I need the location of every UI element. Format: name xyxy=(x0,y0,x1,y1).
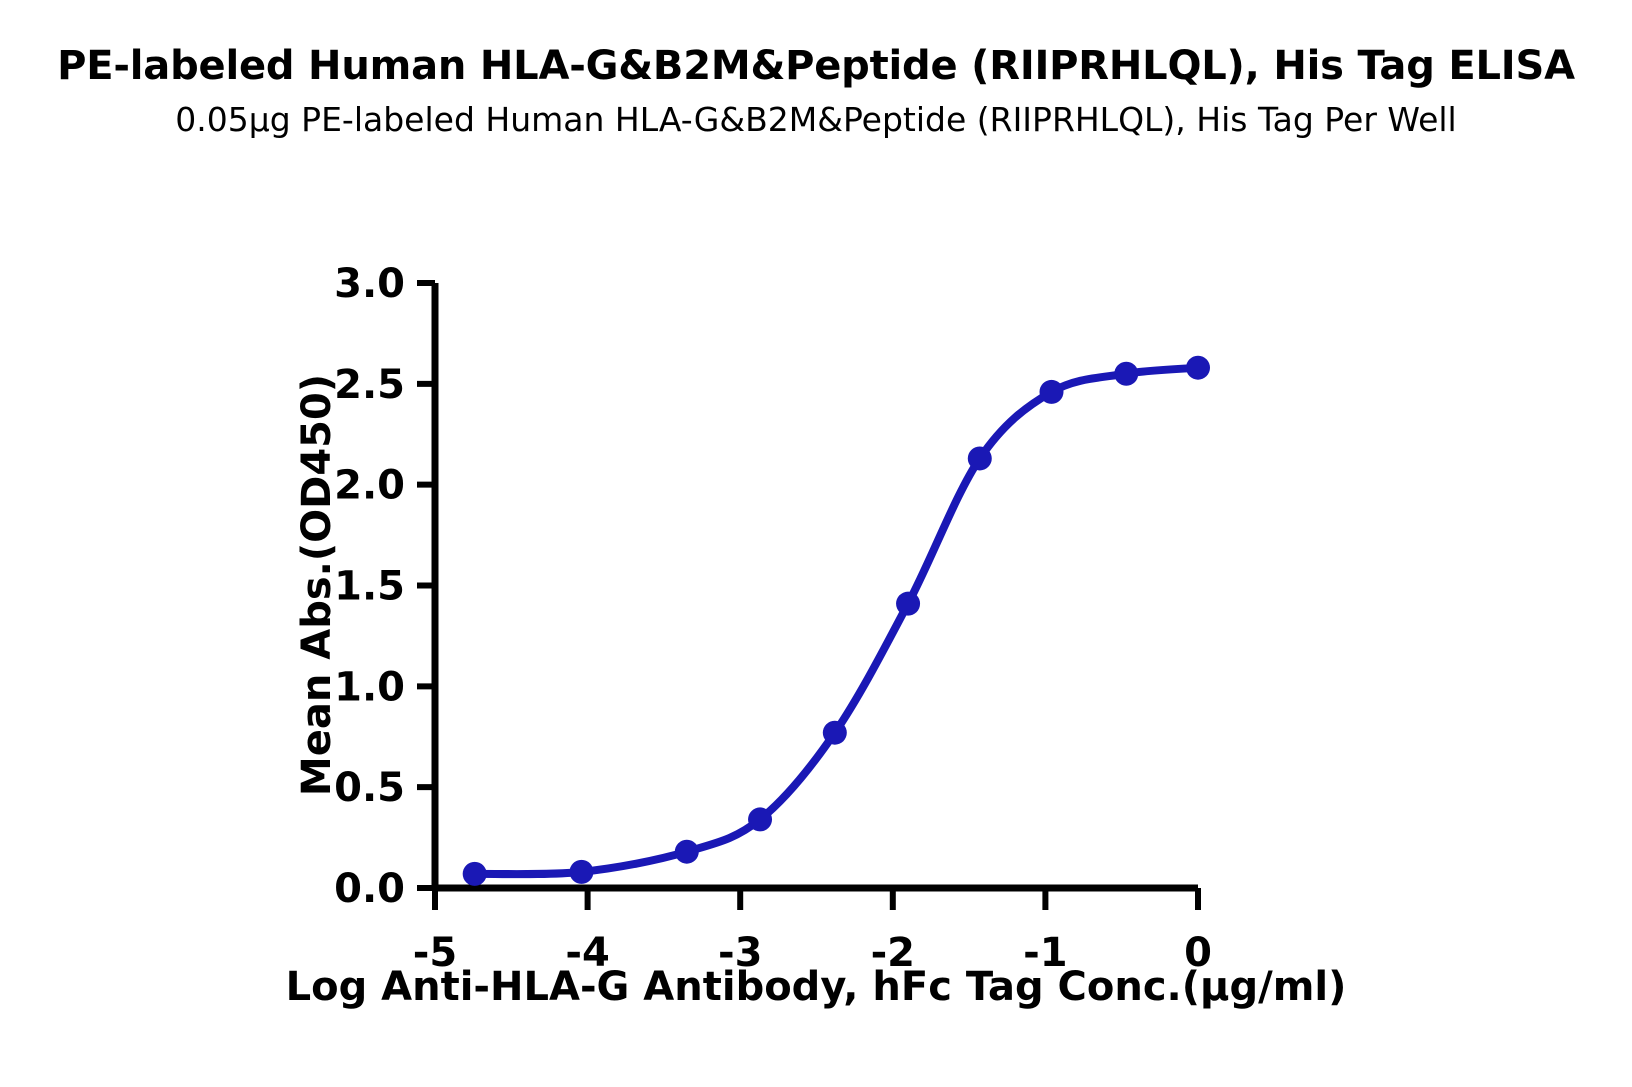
data-point xyxy=(675,840,699,864)
x-tick-group: -5-4-3-2-10 xyxy=(413,888,1212,976)
data-point xyxy=(748,807,772,831)
elisa-line-chart: 0.00.51.01.52.02.53.0 -5-4-3-2-10 Mean A… xyxy=(0,0,1632,1087)
data-curve xyxy=(475,368,1198,874)
y-tick-label: 1.0 xyxy=(334,664,405,710)
data-point xyxy=(463,862,487,886)
plot-area: 0.00.51.01.52.02.53.0 -5-4-3-2-10 Mean A… xyxy=(0,0,1632,1087)
y-tick-label: 0.0 xyxy=(334,866,405,912)
y-axis: 0.00.51.01.52.02.53.0 xyxy=(334,261,435,912)
data-point xyxy=(896,592,920,616)
y-tick-label: 0.5 xyxy=(334,765,405,811)
data-point xyxy=(570,860,594,884)
data-point xyxy=(1040,380,1064,404)
data-point xyxy=(968,446,992,470)
data-point xyxy=(1114,362,1138,386)
data-point xyxy=(1186,356,1210,380)
y-tick-label: 3.0 xyxy=(334,261,405,307)
y-tick-label: 2.0 xyxy=(334,463,405,509)
x-axis-title: Log Anti-HLA-G Antibody, hFc Tag Conc.(µ… xyxy=(286,964,1347,1010)
data-series-group xyxy=(463,356,1210,886)
data-point xyxy=(823,721,847,745)
y-tick-group: 0.00.51.01.52.02.53.0 xyxy=(334,261,435,912)
y-tick-label: 2.5 xyxy=(334,362,405,408)
y-axis-title: Mean Abs.(OD450) xyxy=(294,374,340,796)
y-tick-label: 1.5 xyxy=(334,564,405,610)
x-axis: -5-4-3-2-10 xyxy=(413,888,1212,976)
chart-page: PE-labeled Human HLA-G&B2M&Peptide (RIIP… xyxy=(0,0,1632,1087)
